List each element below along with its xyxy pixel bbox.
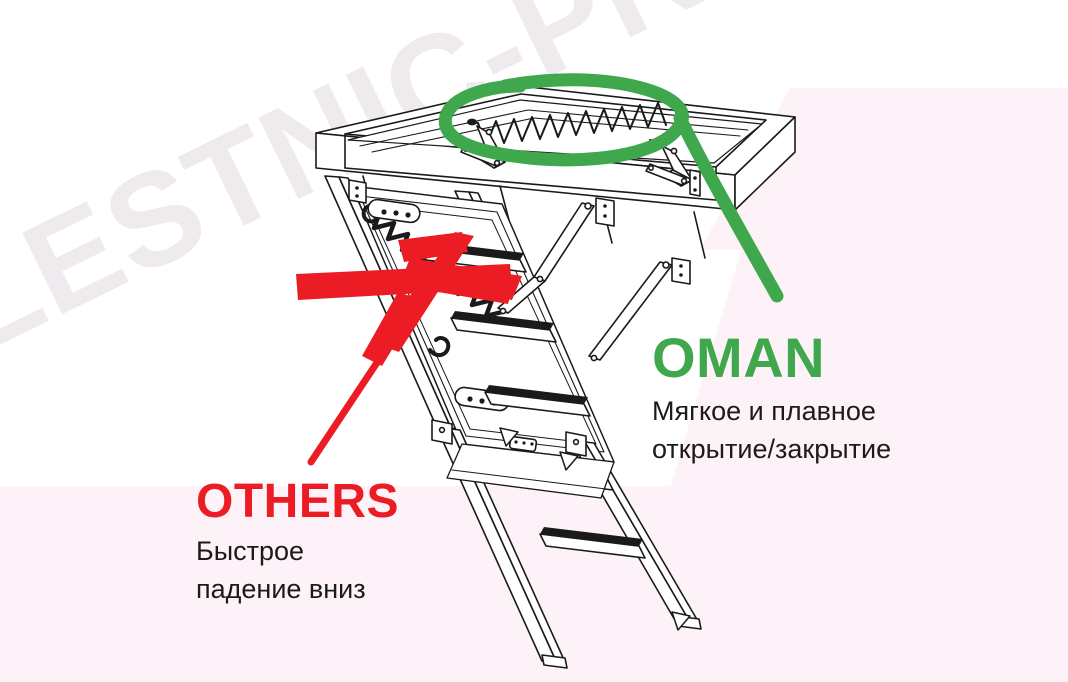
red-annotation-overlay — [0, 0, 1068, 682]
others-subtitle-line2: падение вниз — [196, 570, 399, 608]
oman-title: OMAN — [652, 330, 891, 386]
others-callout: OTHERS Быстрое падение вниз — [196, 478, 399, 609]
oman-subtitle-line2: открытие/закрытие — [652, 430, 891, 468]
oman-subtitle-line1: Мягкое и плавное — [652, 392, 891, 430]
poster-canvas: LESTNIC-PROSTO.RU — [0, 0, 1068, 682]
others-title: OTHERS — [196, 478, 399, 526]
others-subtitle-line1: Быстрое — [196, 532, 399, 570]
oman-callout: OMAN Мягкое и плавное открытие/закрытие — [652, 330, 891, 469]
